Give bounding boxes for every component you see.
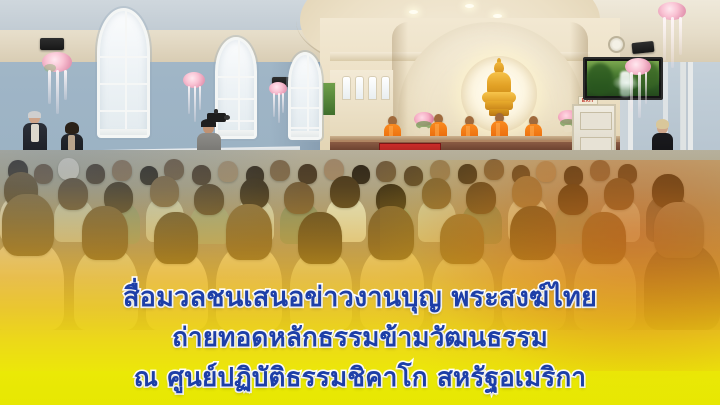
caption-line-1: สื่อมวลชนเสนอข่าวงานบุญ พระสงฆ์ไทย <box>123 279 597 317</box>
caption-line-3: ณ ศูนย์ปฏิบัติธรรมชิคาโก สหรัฐอเมริกา <box>134 359 586 397</box>
arched-window-1 <box>97 8 150 138</box>
person-hair <box>656 119 669 129</box>
window-mullion-h <box>100 110 147 112</box>
person-shirt <box>31 124 39 142</box>
caption-block: สื่อมวลชนเสนอข่าวงานบุญ พระสงฆ์ไทย ถ่ายท… <box>0 279 720 397</box>
flower-pot <box>420 127 428 134</box>
downlight-2 <box>465 4 474 8</box>
flower-garland-right-1 <box>658 2 688 68</box>
garland-vine <box>638 72 641 118</box>
garland-vine <box>199 86 201 110</box>
flower-garland-right-2 <box>625 58 651 118</box>
small-window-4 <box>381 76 390 100</box>
golden-buddha-statue <box>482 62 516 116</box>
flower-garland-1 <box>42 52 72 114</box>
garland-vine <box>64 70 67 100</box>
wall-clock <box>608 36 625 53</box>
speaker-right <box>631 41 654 54</box>
tv-foliage-left <box>587 63 613 95</box>
window-mullion-h <box>100 56 147 58</box>
garland-vine <box>671 17 674 68</box>
garland-vine <box>282 93 284 113</box>
person-hair <box>28 111 41 118</box>
garland-vine <box>278 93 280 123</box>
video-camera-lens <box>224 115 230 120</box>
window-mullion-h <box>218 98 254 100</box>
window-mullion-h <box>291 107 319 109</box>
window-mullion-h <box>218 76 254 78</box>
door-panel-upper <box>580 112 612 130</box>
garland-vine <box>663 17 666 61</box>
small-window-3 <box>368 76 377 100</box>
flower-pot <box>564 125 572 132</box>
garland-vine <box>194 86 196 122</box>
window-mullion-h <box>100 83 147 85</box>
flower-garland-3 <box>269 82 287 124</box>
garland-vine <box>48 70 51 104</box>
garland-vine <box>679 17 682 55</box>
window-mullion-v <box>307 55 309 137</box>
downlight-1 <box>409 10 418 14</box>
person-scarf <box>68 135 75 151</box>
window-mullion-h <box>291 127 319 129</box>
window-mullion-h <box>291 87 319 89</box>
arched-window-3 <box>288 52 322 140</box>
ceiling-left-flat <box>0 0 320 30</box>
wall-mounted-television <box>583 57 663 100</box>
person-hair <box>65 122 79 134</box>
garland-vine <box>56 70 59 114</box>
garland-vine <box>630 72 633 112</box>
garland-vine <box>273 93 275 117</box>
green-wall-picture <box>322 82 336 116</box>
window-sill <box>97 129 150 138</box>
small-window-2 <box>355 76 364 100</box>
window-mullion-v <box>125 11 127 135</box>
flower-garland-2 <box>183 72 205 122</box>
speaker-left <box>40 38 64 50</box>
screenshot-root: EXIT <box>0 0 720 405</box>
garland-vine <box>645 72 647 104</box>
small-window-1 <box>342 76 351 100</box>
camera-mic <box>214 109 218 114</box>
window-sill <box>288 131 322 140</box>
garland-vine <box>188 86 190 114</box>
caption-line-2: ถ่ายทอดหลักธรรมข้ามวัฒนธรรม <box>172 319 548 357</box>
